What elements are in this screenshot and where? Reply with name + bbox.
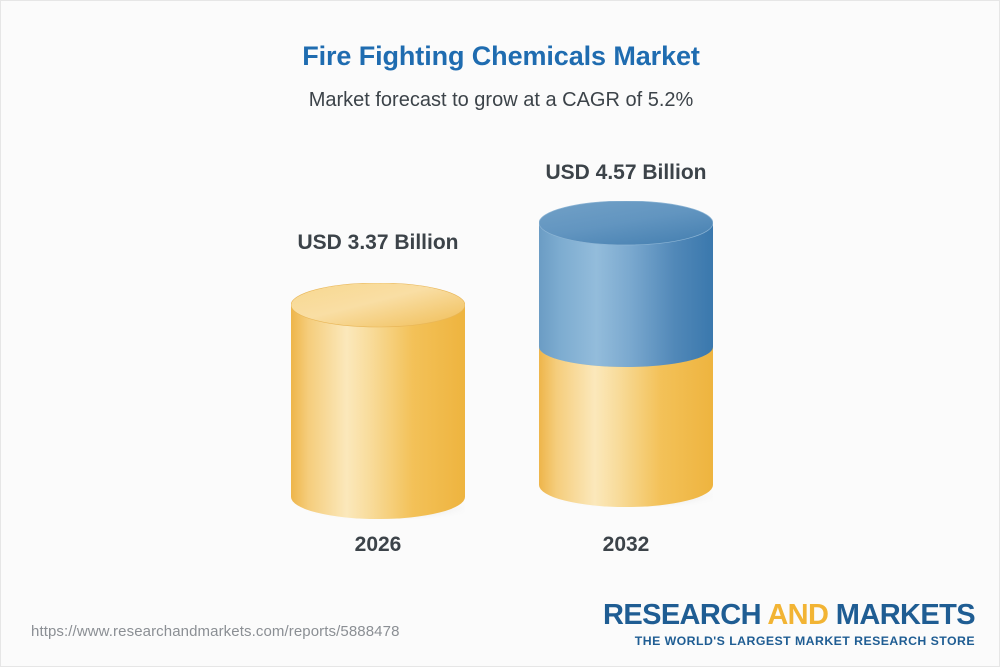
category-label-2026: 2026 bbox=[251, 533, 505, 557]
cylinder-bar-2026 bbox=[291, 283, 465, 519]
chart-plot-area: USD 3.37 Billion bbox=[1, 1, 1000, 601]
bar-value-label-2026: USD 3.37 Billion bbox=[251, 231, 505, 255]
cylinder-top-ellipse bbox=[291, 283, 465, 327]
logo-word-research: RESEARCH bbox=[603, 599, 767, 631]
logo-word-markets: MARKETS bbox=[828, 599, 975, 631]
cylinder-segment-base bbox=[539, 346, 713, 507]
category-label-2032: 2032 bbox=[499, 533, 753, 557]
cylinder-body bbox=[291, 305, 465, 519]
cylinder-top-ellipse bbox=[539, 201, 713, 245]
logo-tagline: THE WORLD'S LARGEST MARKET RESEARCH STOR… bbox=[603, 635, 975, 647]
cylinder-bar-2032 bbox=[539, 201, 713, 507]
logo-wordmark: RESEARCH AND MARKETS bbox=[603, 601, 975, 630]
bar-value-label-2032: USD 4.57 Billion bbox=[499, 161, 753, 185]
source-url[interactable]: https://www.researchandmarkets.com/repor… bbox=[31, 623, 400, 640]
logo-word-and: AND bbox=[767, 599, 828, 631]
research-and-markets-logo[interactable]: RESEARCH AND MARKETS THE WORLD'S LARGEST… bbox=[603, 601, 975, 647]
infographic-canvas: Fire Fighting Chemicals Market Market fo… bbox=[0, 0, 1000, 667]
